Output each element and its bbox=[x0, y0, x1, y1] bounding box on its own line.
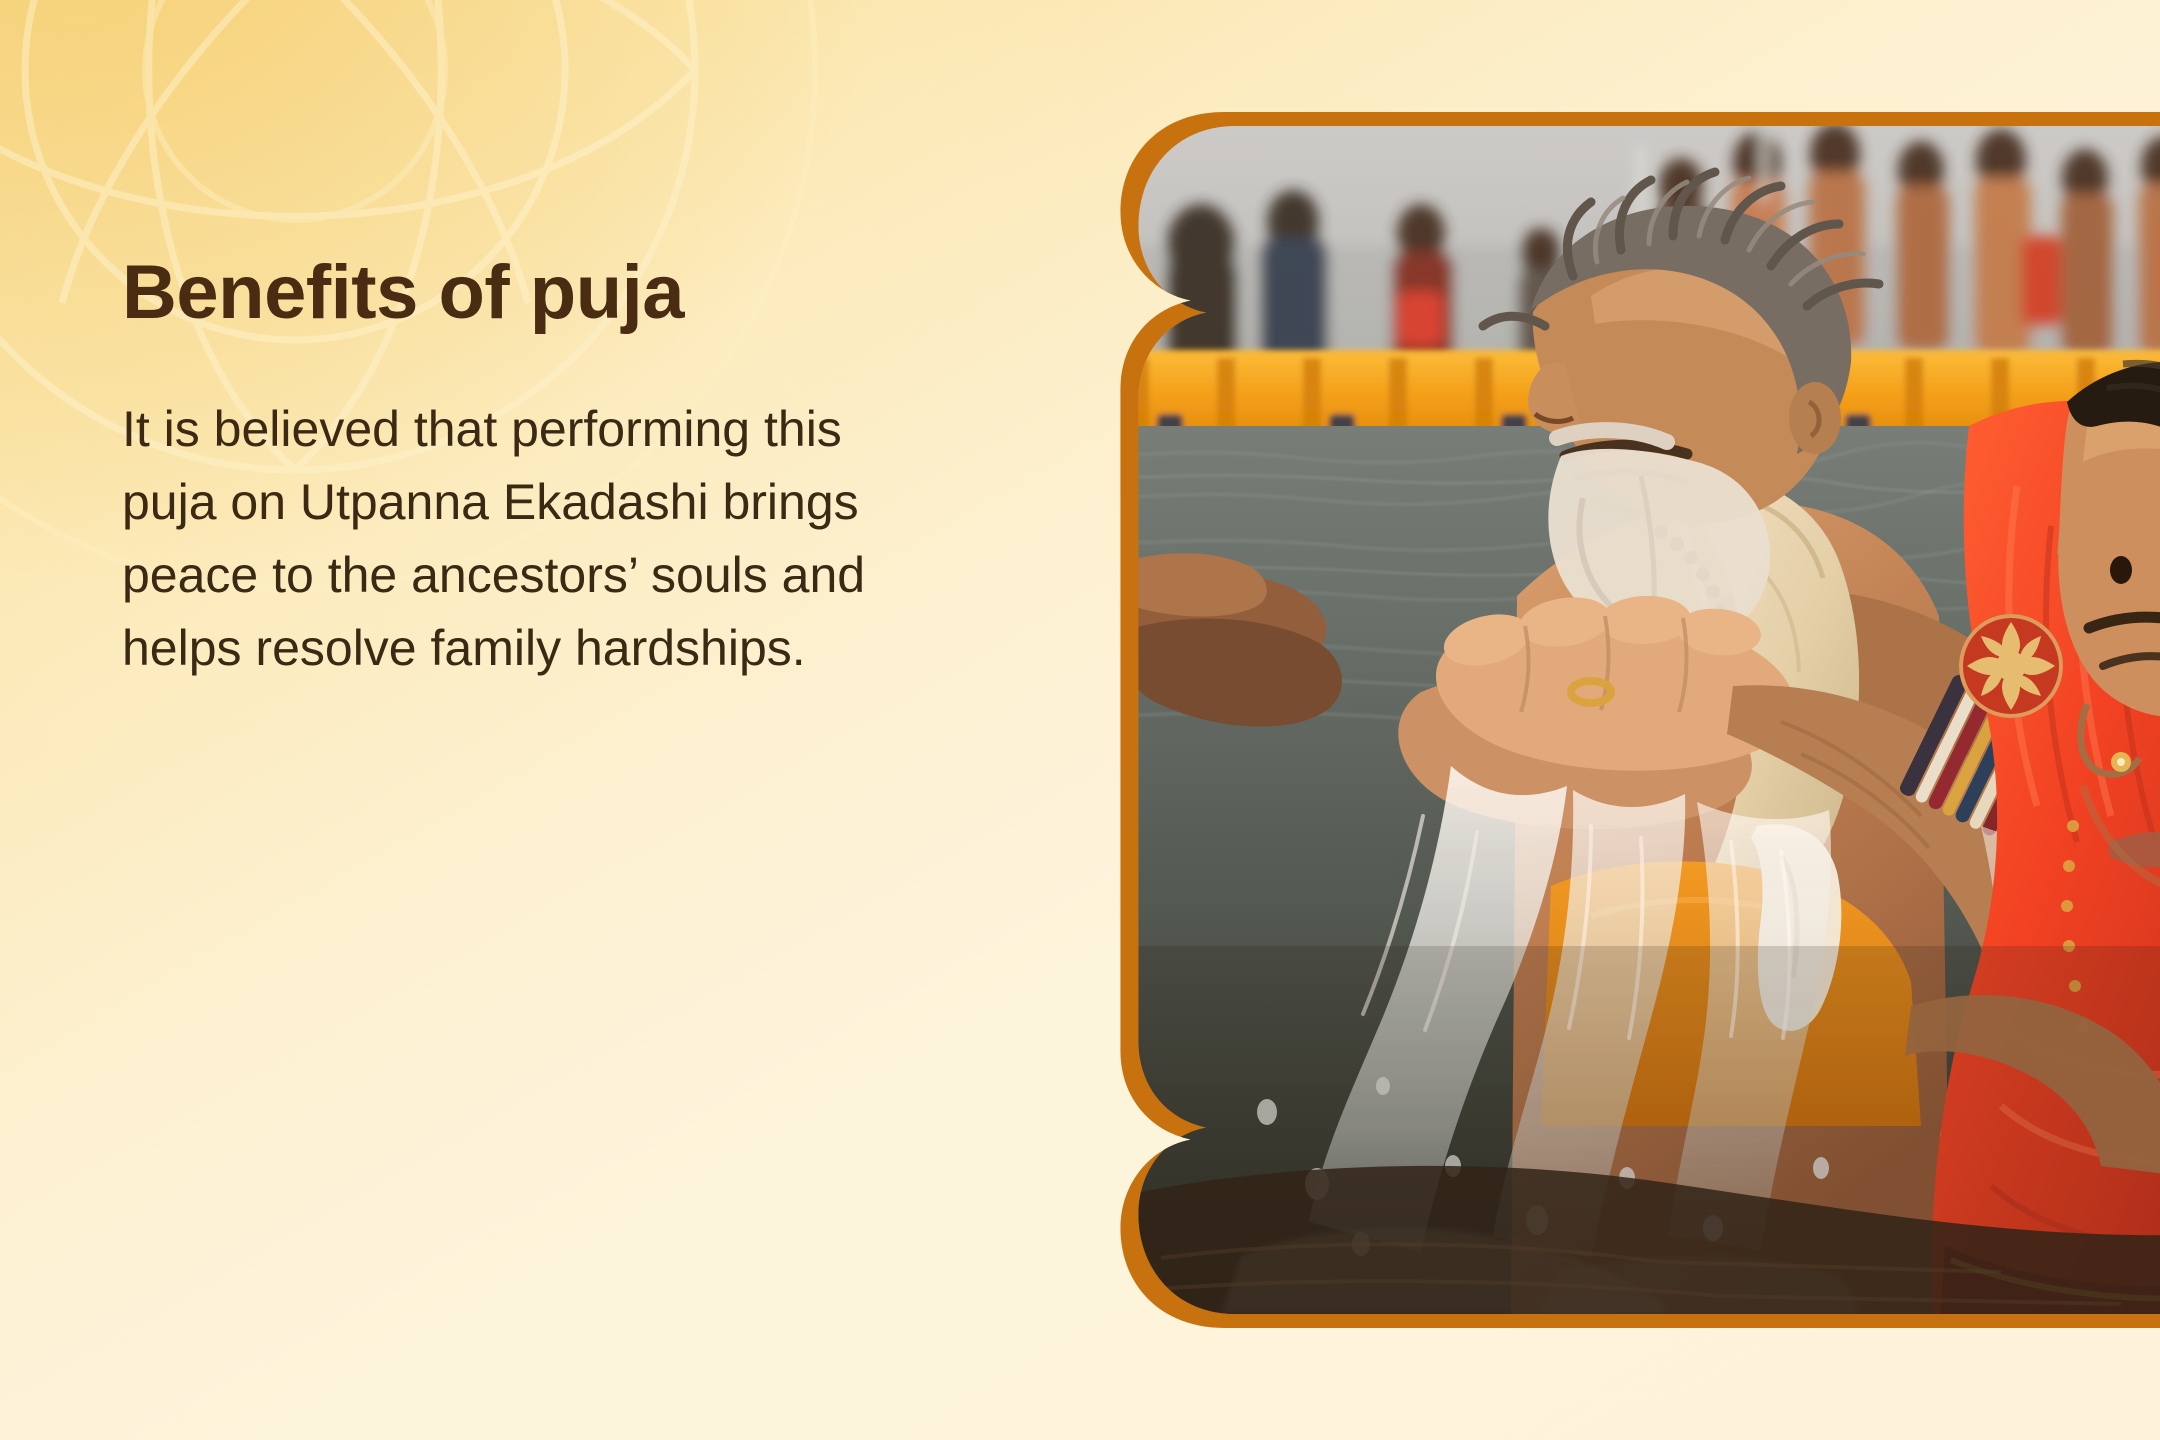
photo-frame bbox=[1107, 112, 2160, 1328]
photo-image bbox=[1121, 126, 2160, 1314]
photo-frame-border bbox=[1107, 112, 2160, 1328]
text-column: Benefits of puja It is believed that per… bbox=[122, 255, 942, 685]
page-title: Benefits of puja bbox=[122, 255, 942, 331]
slide-root: Benefits of puja It is believed that per… bbox=[0, 0, 2160, 1440]
body-paragraph: It is believed that performing this puja… bbox=[122, 331, 932, 685]
